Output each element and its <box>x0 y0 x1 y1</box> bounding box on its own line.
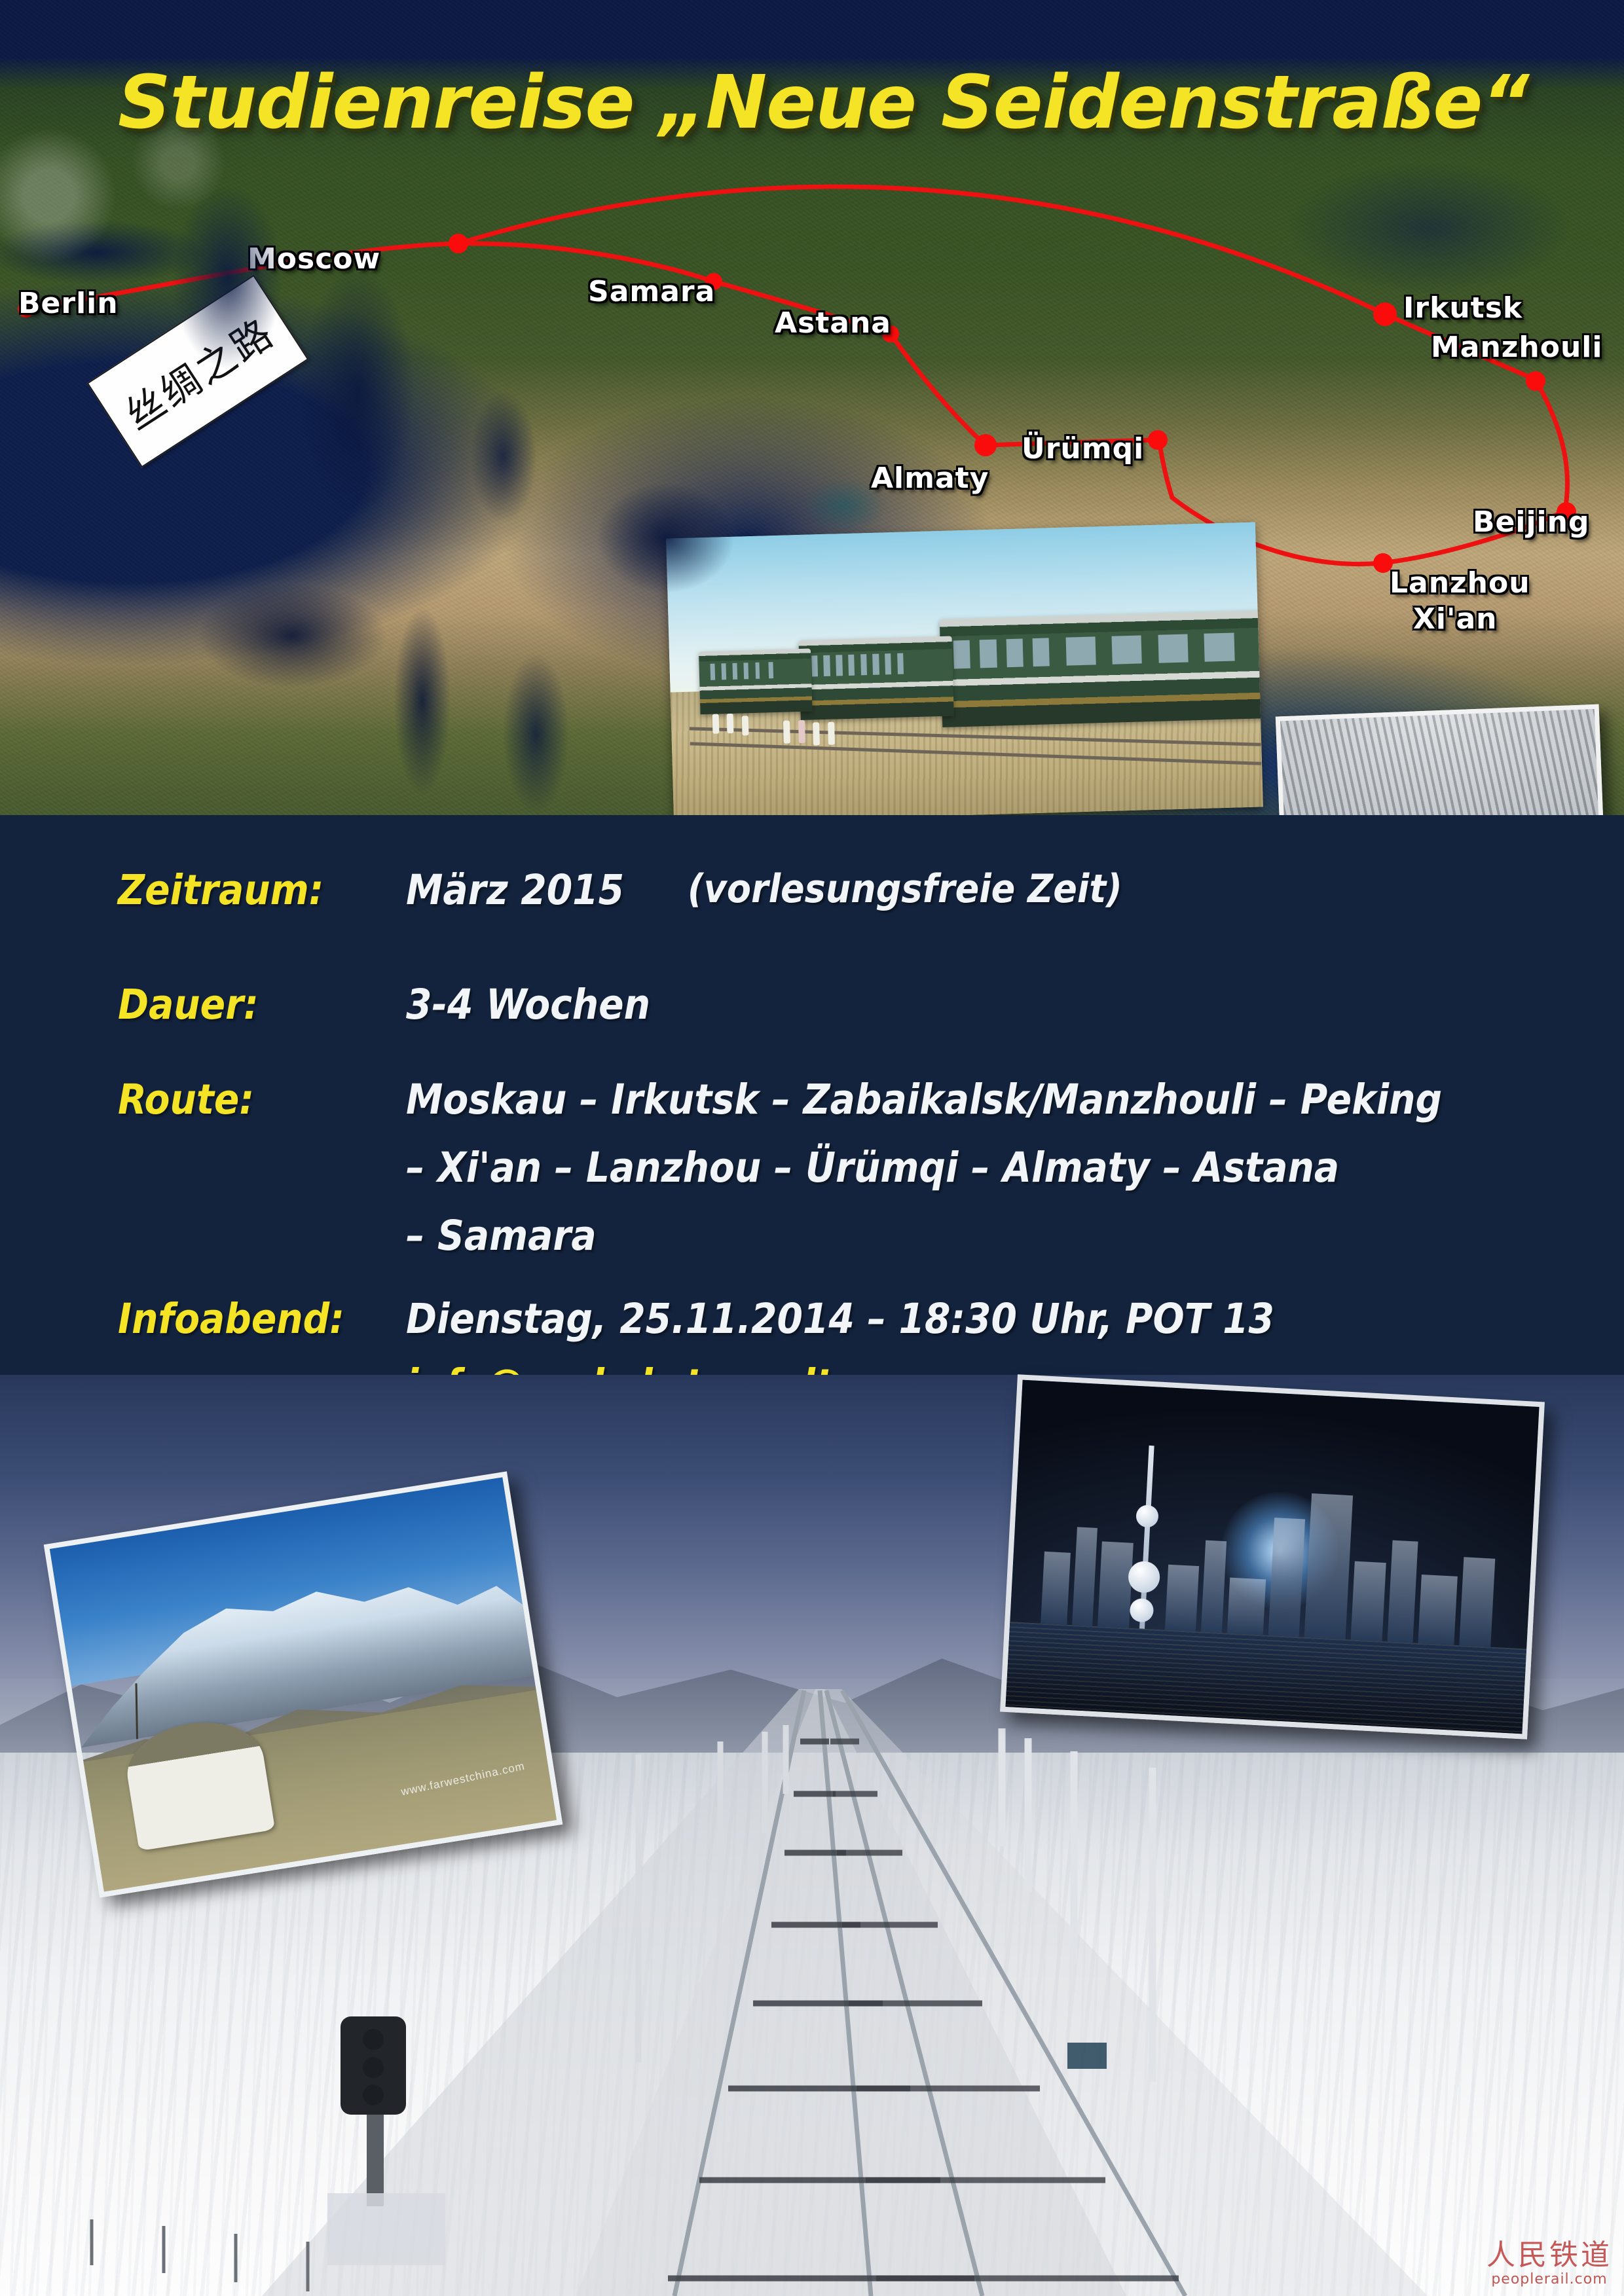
info-label-route: Route: <box>118 1076 254 1123</box>
map-city-label-astana: Astana <box>775 306 891 340</box>
info-label-dauer: Dauer: <box>118 981 259 1029</box>
map-city-label-lanzhou: Lanzhou <box>1390 566 1530 600</box>
info-value-route-line-3: – Samara <box>406 1212 597 1260</box>
map-city-label-beijing: Beijing <box>1473 505 1589 539</box>
info-value-infoabend: Dienstag, 25.11.2014 – 18:30 Uhr, POT 13 <box>406 1295 1274 1343</box>
map-city-label-moscow: Moscow <box>248 242 380 276</box>
watermark-chinese-text: 人民铁道 <box>1486 2241 1612 2270</box>
map-city-label-manzhouli: Manzhouli <box>1431 331 1602 364</box>
info-label-zeitraum: Zeitraum: <box>118 866 323 914</box>
map-city-label-urumqi: Ürümqi <box>1022 432 1144 465</box>
photo-passenger-train <box>666 522 1263 815</box>
info-value-route-line-2: – Xi'an – Lanzhou – Ürümqi – Almaty – As… <box>406 1144 1339 1192</box>
map-texture-overlay <box>0 0 1624 815</box>
photo-yurt-mountain: www.farwestchina.com <box>44 1471 563 1897</box>
map-city-label-xian: Xi'an <box>1413 602 1498 636</box>
info-note-zeitraum: (vorlesungsfreie Zeit) <box>688 866 1122 912</box>
info-value-route-line-1: Moskau – Irkutsk – Zabaikalsk/Manzhouli … <box>406 1076 1442 1123</box>
photo-shanghai-skyline <box>1000 1374 1545 1739</box>
info-label-infoabend: Infoabend: <box>118 1295 344 1343</box>
silk-road-label-text: 丝绸之路 <box>112 302 284 441</box>
map-city-label-irkutsk: Irkutsk <box>1403 291 1522 325</box>
photo-railway-station-hall <box>1276 704 1608 815</box>
info-value-zeitraum: März 2015 <box>406 866 624 914</box>
page-title: Studienreise „Neue Seidenstraße“ <box>118 60 1528 145</box>
silk-road-route-overlay <box>0 0 1624 815</box>
watermark-domain-text: peoplerail.com <box>1486 2272 1612 2287</box>
peoplerail-watermark: 人民铁道 peoplerail.com <box>1486 2241 1612 2287</box>
satellite-map-background: 丝绸之路 Studienreise „Neue Seidenstraße“ Be… <box>0 0 1624 815</box>
info-panel: Zeitraum: März 2015 (vorlesungsfreie Zei… <box>0 815 1624 1375</box>
map-city-label-berlin: Berlin <box>18 287 119 320</box>
map-city-label-almaty: Almaty <box>871 462 989 495</box>
map-city-label-samara: Samara <box>588 275 715 308</box>
info-value-dauer: 3-4 Wochen <box>406 981 650 1029</box>
silk-road-label-plate: 丝绸之路 <box>87 275 309 468</box>
poster-root: 丝绸之路 Studienreise „Neue Seidenstraße“ Be… <box>0 0 1624 2296</box>
